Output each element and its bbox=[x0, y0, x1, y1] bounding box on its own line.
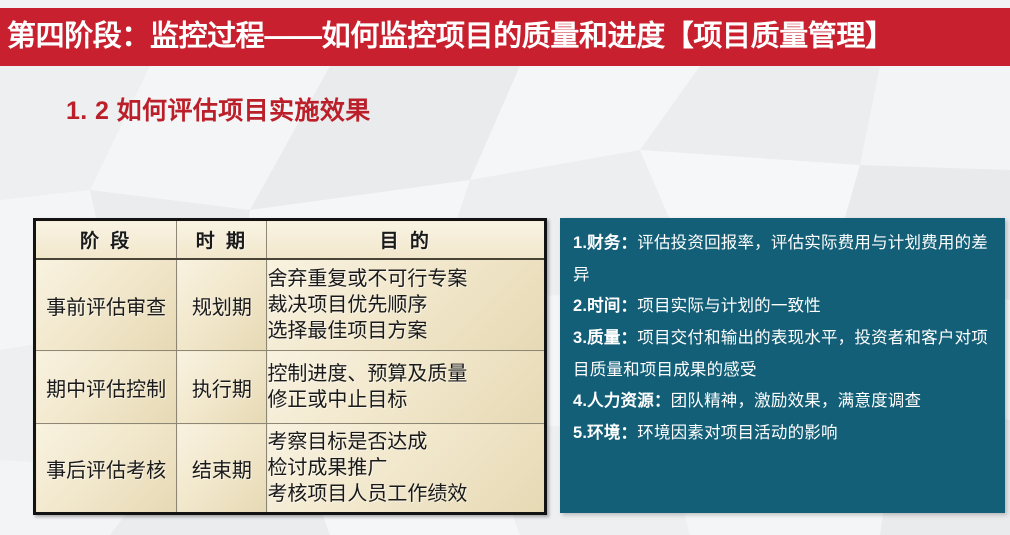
cell-purpose: 控制进度、预算及质量 修正或中止目标 bbox=[267, 351, 546, 424]
point-body: 环境因素对项目活动的影响 bbox=[637, 424, 837, 442]
cell-period: 规划期 bbox=[177, 259, 267, 351]
cell-period: 结束期 bbox=[177, 424, 267, 514]
point-lead: 2.时间： bbox=[573, 297, 637, 315]
evaluation-stage-table: 阶 段 时 期 目 的 事前评估审查 规划期 舍弃重复或不可行专案 裁决项目优先… bbox=[33, 218, 547, 515]
purpose-line: 考核项目人员工作绩效 bbox=[267, 481, 544, 507]
purpose-line: 控制进度、预算及质量 bbox=[267, 361, 544, 387]
table-row: 期中评估控制 执行期 控制进度、预算及质量 修正或中止目标 bbox=[35, 351, 546, 424]
table-header: 阶 段 时 期 目 的 bbox=[35, 220, 546, 260]
column-header-period: 时 期 bbox=[177, 220, 267, 260]
page-title: 第四阶段：监控过程——如何监控项目的质量和进度【项目质量管理】 bbox=[7, 23, 894, 52]
list-item: 5.环境：环境因素对项目活动的影响 bbox=[573, 418, 991, 450]
cell-stage: 事前评估审查 bbox=[35, 259, 177, 351]
point-lead: 1.财务： bbox=[573, 234, 637, 252]
purpose-line: 选择最佳项目方案 bbox=[267, 318, 544, 344]
list-item: 3.质量：项目交付和输出的表现水平，投资者和客户对项目质量和项目成果的感受 bbox=[573, 323, 991, 386]
cell-purpose: 考察目标是否达成 检讨成果推广 考核项目人员工作绩效 bbox=[267, 424, 546, 514]
cell-stage: 期中评估控制 bbox=[35, 351, 177, 424]
point-body: 团队精神，激励效果，满意度调查 bbox=[671, 392, 922, 410]
table-row: 事前评估审查 规划期 舍弃重复或不可行专案 裁决项目优先顺序 选择最佳项目方案 bbox=[35, 259, 546, 351]
point-lead: 3.质量： bbox=[573, 329, 637, 347]
point-lead: 5.环境： bbox=[573, 424, 637, 442]
purpose-line: 修正或中止目标 bbox=[267, 387, 544, 413]
purpose-line: 舍弃重复或不可行专案 bbox=[267, 266, 544, 292]
title-banner: 第四阶段：监控过程——如何监控项目的质量和进度【项目质量管理】 bbox=[0, 8, 1010, 66]
evaluation-dimensions-panel: 1.财务：评估投资回报率，评估实际费用与计划费用的差异 2.时间：项目实际与计划… bbox=[560, 218, 1005, 513]
list-item: 1.财务：评估投资回报率，评估实际费用与计划费用的差异 bbox=[573, 228, 991, 291]
point-lead: 4.人力资源： bbox=[573, 392, 671, 410]
purpose-line: 裁决项目优先顺序 bbox=[267, 292, 544, 318]
column-header-purpose: 目 的 bbox=[267, 220, 546, 260]
point-body: 项目实际与计划的一致性 bbox=[637, 297, 821, 315]
cell-period: 执行期 bbox=[177, 351, 267, 424]
table-header-row: 阶 段 时 期 目 的 bbox=[35, 220, 546, 260]
slide-canvas: 第四阶段：监控过程——如何监控项目的质量和进度【项目质量管理】 1. 2 如何评… bbox=[0, 0, 1010, 535]
column-header-stage: 阶 段 bbox=[35, 220, 177, 260]
cell-purpose: 舍弃重复或不可行专案 裁决项目优先顺序 选择最佳项目方案 bbox=[267, 259, 546, 351]
section-subtitle: 1. 2 如何评估项目实施效果 bbox=[66, 91, 371, 127]
list-item: 2.时间：项目实际与计划的一致性 bbox=[573, 291, 991, 323]
list-item: 4.人力资源：团队精神，激励效果，满意度调查 bbox=[573, 386, 991, 418]
table-row: 事后评估考核 结束期 考察目标是否达成 检讨成果推广 考核项目人员工作绩效 bbox=[35, 424, 546, 514]
cell-stage: 事后评估考核 bbox=[35, 424, 177, 514]
purpose-line: 检讨成果推广 bbox=[267, 455, 544, 481]
table-body: 事前评估审查 规划期 舍弃重复或不可行专案 裁决项目优先顺序 选择最佳项目方案 … bbox=[35, 259, 546, 514]
purpose-line: 考察目标是否达成 bbox=[267, 429, 544, 455]
